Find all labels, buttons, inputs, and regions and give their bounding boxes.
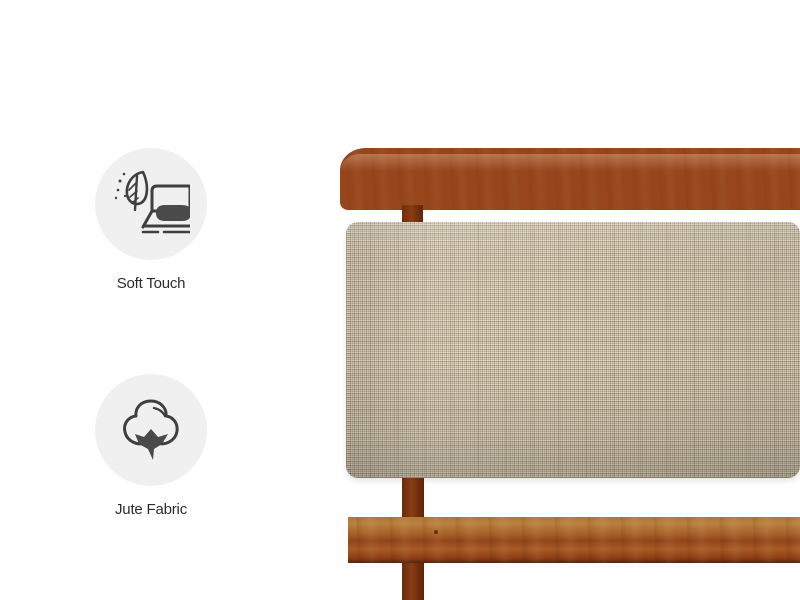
feature-label-soft-touch: Soft Touch <box>88 275 214 292</box>
feature-badge-soft-touch <box>95 148 207 260</box>
top-wood-rail <box>340 148 800 210</box>
bottom-wood-rail <box>348 517 800 563</box>
product-feature-banner: Cushioned Headboard perfect for extended… <box>0 0 800 600</box>
feature-label-jute-fabric: Jute Fabric <box>88 501 214 518</box>
cotton-boll-icon <box>113 392 189 468</box>
rail-edge-shadow <box>348 558 800 563</box>
feature-item-jute-fabric: Jute Fabric <box>88 374 214 518</box>
feature-list: Soft Touch Jute Fabric <box>88 148 214 518</box>
wood-highlight <box>340 154 800 171</box>
wood-knot <box>434 530 438 534</box>
jute-cushion-panel <box>346 222 800 478</box>
feature-item-soft-touch: Soft Touch <box>88 148 214 292</box>
wood-grain-texture-lower <box>348 517 800 563</box>
feature-badge-jute-fabric <box>95 374 207 486</box>
feather-bed-icon <box>112 165 190 243</box>
product-photo <box>340 0 800 600</box>
cushion-shading <box>346 222 800 478</box>
